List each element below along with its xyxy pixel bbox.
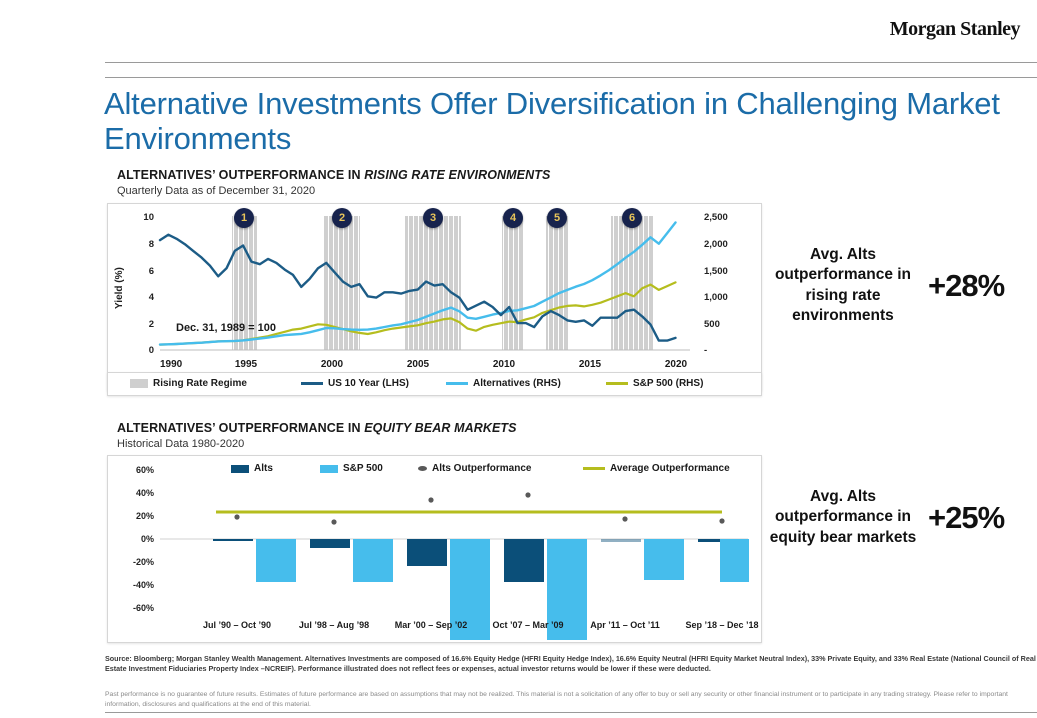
svg-text:2,500: 2,500 [704, 212, 728, 223]
band-swatch-icon [130, 379, 148, 388]
svg-text:0%: 0% [141, 534, 154, 544]
chart1-left-ticks: 10 8 6 4 2 0 [143, 212, 154, 356]
legend-label: Rising Rate Regime [153, 378, 247, 389]
svg-text:6: 6 [149, 266, 154, 277]
svg-text:0: 0 [149, 345, 154, 356]
section1-heading: ALTERNATIVES’ OUTPERFORMANCE IN RISING R… [117, 168, 550, 182]
legend-label: Alts Outperformance [432, 463, 531, 474]
legend-item-average-outperformance: Average Outperformance [583, 463, 730, 474]
regime-badge-4: 4 [503, 208, 523, 228]
page-title: Alternative Investments Offer Diversific… [104, 86, 1004, 157]
svg-text:8: 8 [149, 239, 154, 250]
footer-rule [105, 712, 1037, 713]
header-rule-top [105, 62, 1037, 63]
chart1-x-ticks: 1990 1995 2000 2005 2010 2015 2020 [160, 359, 688, 370]
svg-text:60%: 60% [136, 465, 154, 475]
svg-text:1995: 1995 [235, 359, 258, 370]
legend-item-us-10-year: US 10 Year (LHS) [301, 378, 409, 389]
svg-text:40%: 40% [136, 488, 154, 498]
chart1-ylabel: Yield (%) [114, 267, 125, 309]
svg-text:-40%: -40% [133, 580, 154, 590]
source-note: Source: Bloomberg; Morgan Stanley Wealth… [105, 654, 1037, 674]
legend-item-rising-rate-regime: Rising Rate Regime [130, 378, 247, 389]
svg-text:2: 2 [149, 319, 154, 330]
chart1-right-ticks: 2,500 2,000 1,500 1,000 500 - [704, 212, 728, 356]
section1-heading-italic: RISING RATE ENVIRONMENTS [364, 168, 550, 182]
section1-subtitle: Quarterly Data as of December 31, 2020 [117, 185, 315, 197]
svg-text:2010: 2010 [493, 359, 516, 370]
morgan-stanley-logo: Morgan Stanley [0, 18, 1020, 41]
section2-heading: ALTERNATIVES’ OUTPERFORMANCE IN EQUITY B… [117, 421, 517, 435]
rising-rate-chart-svg: 10 8 6 4 2 0 2,500 2,000 1,500 1,000 500… [108, 204, 759, 388]
callout-rising-rate-text: Avg. Alts outperformance in rising rate … [768, 245, 918, 327]
alts-outperformance-dots [234, 492, 724, 524]
legend-label: US 10 Year (LHS) [328, 378, 409, 389]
svg-text:Jul ’98 – Aug ’98: Jul ’98 – Aug ’98 [299, 620, 369, 630]
svg-text:10: 10 [143, 212, 154, 223]
line-swatch-icon [301, 382, 323, 385]
line-swatch-icon [606, 382, 628, 385]
regime-badge-6: 6 [622, 208, 642, 228]
regime-badge-1: 1 [234, 208, 254, 228]
rising-rate-legend: Rising Rate Regime US 10 Year (LHS) Alte… [107, 372, 762, 396]
svg-text:2015: 2015 [579, 359, 602, 370]
regime-badge-5: 5 [547, 208, 567, 228]
chart1-inline-note: Dec. 31, 1989 = 100 [176, 322, 276, 334]
section2-subtitle: Historical Data 1980-2020 [117, 438, 244, 450]
section1-heading-plain: ALTERNATIVES’ OUTPERFORMANCE IN [117, 168, 364, 182]
svg-text:-60%: -60% [133, 603, 154, 613]
svg-text:2000: 2000 [321, 359, 344, 370]
legend-item-sp500: S&P 500 [320, 463, 383, 474]
svg-text:2020: 2020 [665, 359, 688, 370]
svg-text:Jul ’90 – Oct ’90: Jul ’90 – Oct ’90 [203, 620, 271, 630]
legend-label: S&P 500 [343, 463, 383, 474]
legend-item-alts: Alts [231, 463, 273, 474]
equity-bear-chart-svg: 60% 40% 20% 0% -20% -40% -60% Jul ’90 – … [108, 456, 759, 640]
svg-text:Mar ’00 – Sep ’02: Mar ’00 – Sep ’02 [395, 620, 468, 630]
legend-label: Alternatives (RHS) [473, 378, 561, 389]
legend-item-alternatives: Alternatives (RHS) [446, 378, 561, 389]
callout-equity-bear: Avg. Alts outperformance in equity bear … [768, 487, 1004, 548]
callout-rising-rate: Avg. Alts outperformance in rising rate … [768, 245, 1004, 327]
svg-text:Apr ’11 – Oct ’11: Apr ’11 – Oct ’11 [590, 620, 660, 630]
regime-badge-2: 2 [332, 208, 352, 228]
bar-swatch-icon [320, 465, 338, 473]
equity-bear-chart: 60% 40% 20% 0% -20% -40% -60% Jul ’90 – … [107, 455, 762, 643]
callout-equity-bear-text: Avg. Alts outperformance in equity bear … [768, 487, 918, 548]
line-swatch-icon [446, 382, 468, 385]
legend-label: Alts [254, 463, 273, 474]
rising-rate-chart: 10 8 6 4 2 0 2,500 2,000 1,500 1,000 500… [107, 203, 762, 391]
svg-text:Oct ’07 – Mar ’09: Oct ’07 – Mar ’09 [492, 620, 563, 630]
chart2-y-ticks: 60% 40% 20% 0% -20% -40% -60% [133, 465, 154, 613]
line-swatch-icon [583, 467, 605, 470]
legend-item-alts-outperformance: Alts Outperformance [418, 463, 531, 474]
svg-text:1,500: 1,500 [704, 266, 728, 277]
svg-text:500: 500 [704, 319, 720, 330]
svg-text:1,000: 1,000 [704, 292, 728, 303]
svg-text:-: - [704, 345, 707, 356]
svg-text:20%: 20% [136, 511, 154, 521]
regime-badge-3: 3 [423, 208, 443, 228]
legend-label: S&P 500 (RHS) [633, 378, 703, 389]
dot-swatch-icon [418, 466, 427, 471]
slide: Morgan Stanley Alternative Investments O… [0, 0, 1037, 718]
svg-text:2,000: 2,000 [704, 239, 728, 250]
legend-item-sp500: S&P 500 (RHS) [606, 378, 703, 389]
svg-text:1990: 1990 [160, 359, 183, 370]
callout-equity-bear-value: +25% [928, 500, 1004, 536]
svg-text:Sep ’18 – Dec ’18: Sep ’18 – Dec ’18 [685, 620, 758, 630]
legend-label: Average Outperformance [610, 463, 730, 474]
svg-text:-20%: -20% [133, 557, 154, 567]
header-rule-bottom [105, 77, 1037, 78]
bar-swatch-icon [231, 465, 249, 473]
section2-heading-plain: ALTERNATIVES’ OUTPERFORMANCE IN [117, 421, 364, 435]
disclaimer-note: Past performance is no guarantee of futu… [105, 690, 1037, 710]
section2-heading-italic: EQUITY BEAR MARKETS [364, 421, 516, 435]
svg-text:2005: 2005 [407, 359, 430, 370]
svg-text:4: 4 [149, 292, 155, 303]
callout-rising-rate-value: +28% [928, 268, 1004, 304]
